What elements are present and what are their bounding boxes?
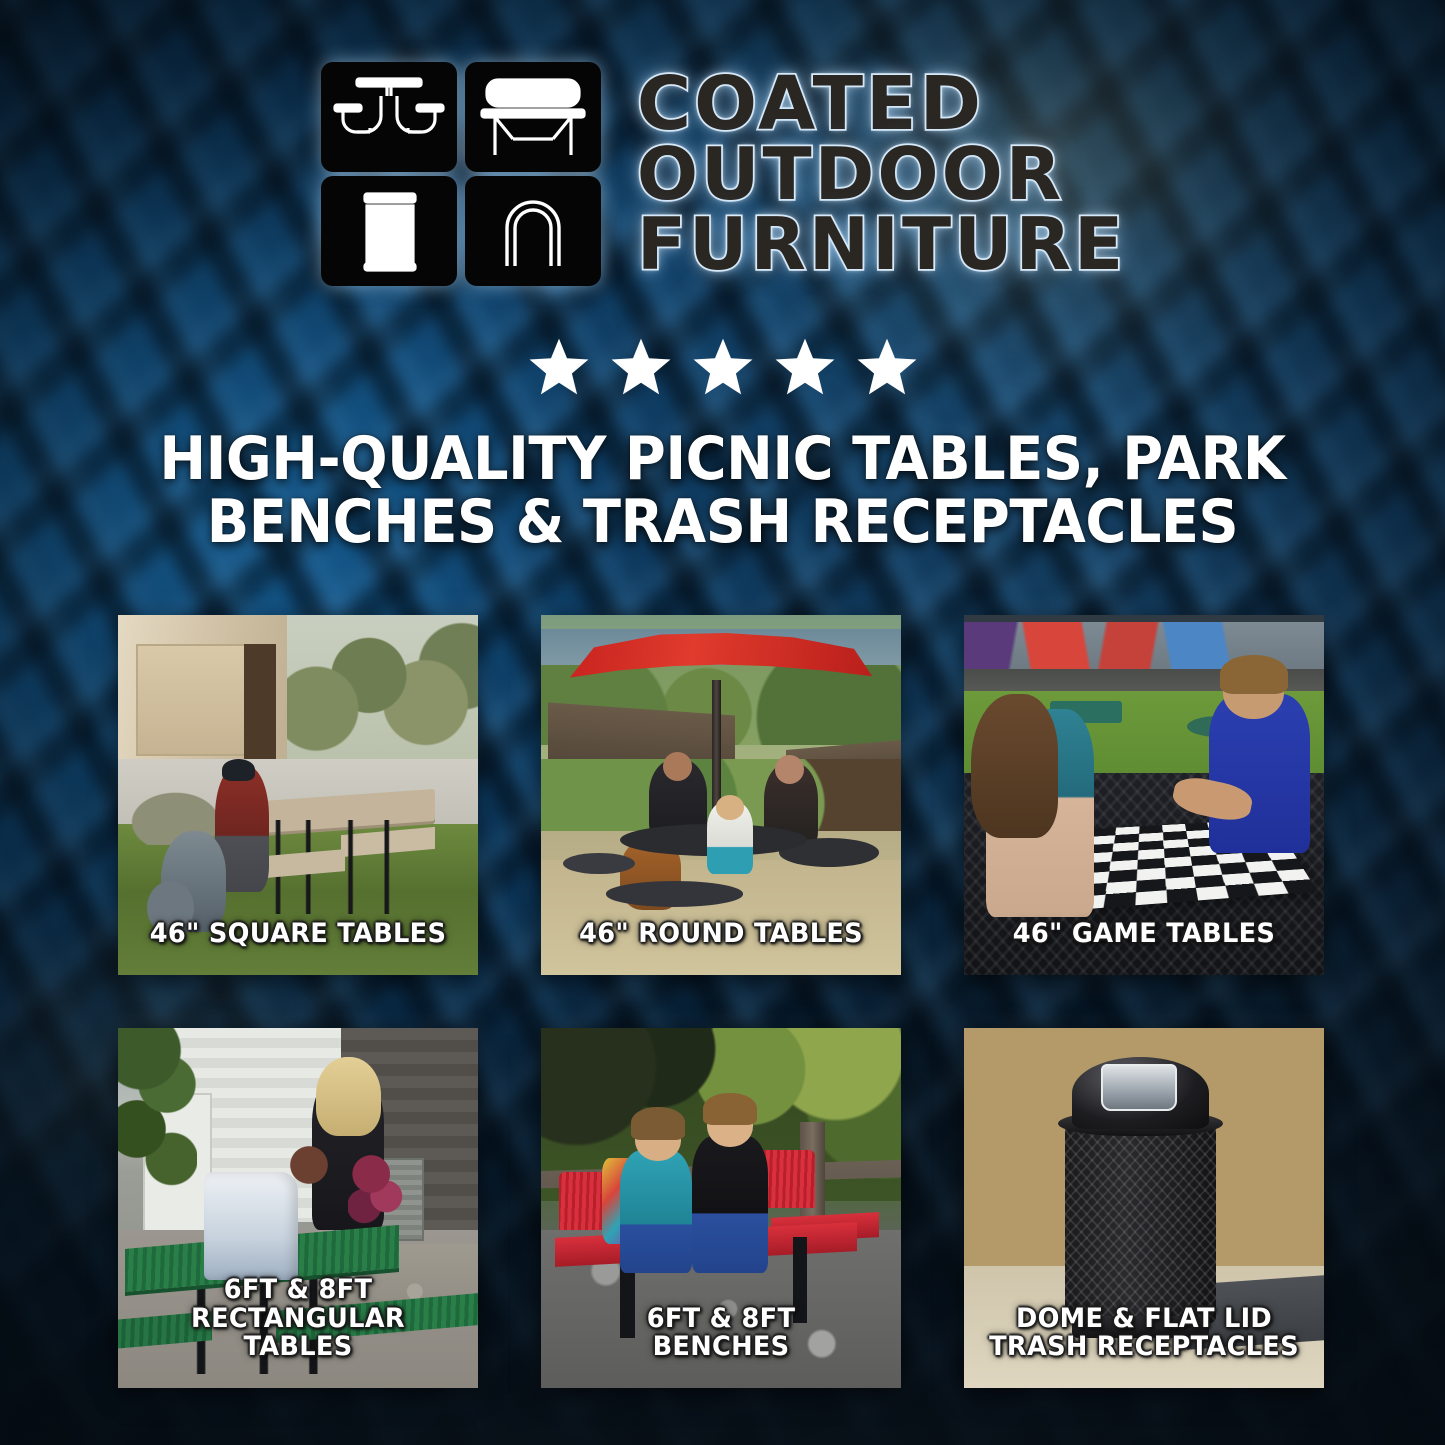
headline-line1: HIGH-QUALITY PICNIC TABLES, PARK <box>159 424 1285 494</box>
product-tile-rectangular-tables[interactable]: 6FT & 8FT RECTANGULAR TABLES <box>118 1028 478 1388</box>
product-caption-line2: BENCHES <box>558 1333 885 1362</box>
product-caption-line1: DOME & FLAT LID <box>1016 1303 1272 1334</box>
product-caption-line1: 6FT & 8FT <box>224 1274 373 1305</box>
brand-name-line1: COATED <box>637 69 984 140</box>
product-grid: 46" SQUARE TABLES 46" ROUND TABLES <box>118 615 1328 1388</box>
star-icon <box>691 336 755 398</box>
product-tile-game-tables[interactable]: 46" GAME TABLES <box>964 615 1324 975</box>
product-caption-line1: 46" SQUARE TABLES <box>150 918 446 949</box>
headline-line2: BENCHES & TRASH RECEPTACLES <box>106 491 1338 554</box>
product-caption-line1: 46" GAME TABLES <box>1013 918 1275 949</box>
product-caption-line1: 6FT & 8FT <box>647 1303 796 1334</box>
product-tile-square-tables[interactable]: 46" SQUARE TABLES <box>118 615 478 975</box>
star-icon <box>773 336 837 398</box>
brand-name-line3: FURNITURE <box>637 210 1126 279</box>
product-tile-trash-receptacles[interactable]: DOME & FLAT LID TRASH RECEPTACLES <box>964 1028 1324 1388</box>
product-caption: 46" SQUARE TABLES <box>127 920 469 949</box>
four-quadrant-furniture-icon <box>319 60 603 288</box>
product-tile-round-tables[interactable]: 46" ROUND TABLES <box>541 615 901 975</box>
brand-logo: COATED OUTDOOR FURNITURE <box>0 60 1445 288</box>
star-icon <box>855 336 919 398</box>
product-caption: 46" GAME TABLES <box>973 920 1315 949</box>
five-star-rating <box>0 336 1445 398</box>
product-caption-line2: RECTANGULAR TABLES <box>135 1305 462 1362</box>
product-tile-benches[interactable]: 6FT & 8FT BENCHES <box>541 1028 901 1388</box>
trash-receptacle-icon <box>365 194 415 270</box>
page-headline: HIGH-QUALITY PICNIC TABLES, PARK BENCHES… <box>51 428 1395 554</box>
star-icon <box>609 336 673 398</box>
product-caption: DOME & FLAT LID TRASH RECEPTACLES <box>973 1305 1315 1362</box>
star-icon <box>527 336 591 398</box>
brand-name-line2: OUTDOOR <box>637 140 1064 209</box>
product-caption: 6FT & 8FT BENCHES <box>550 1305 892 1362</box>
product-caption-line1: 46" ROUND TABLES <box>579 918 863 949</box>
product-caption: 6FT & 8FT RECTANGULAR TABLES <box>127 1276 469 1362</box>
product-caption-line2: TRASH RECEPTACLES <box>981 1333 1308 1362</box>
product-caption: 46" ROUND TABLES <box>550 920 892 949</box>
brand-name: COATED OUTDOOR FURNITURE <box>637 69 1126 278</box>
